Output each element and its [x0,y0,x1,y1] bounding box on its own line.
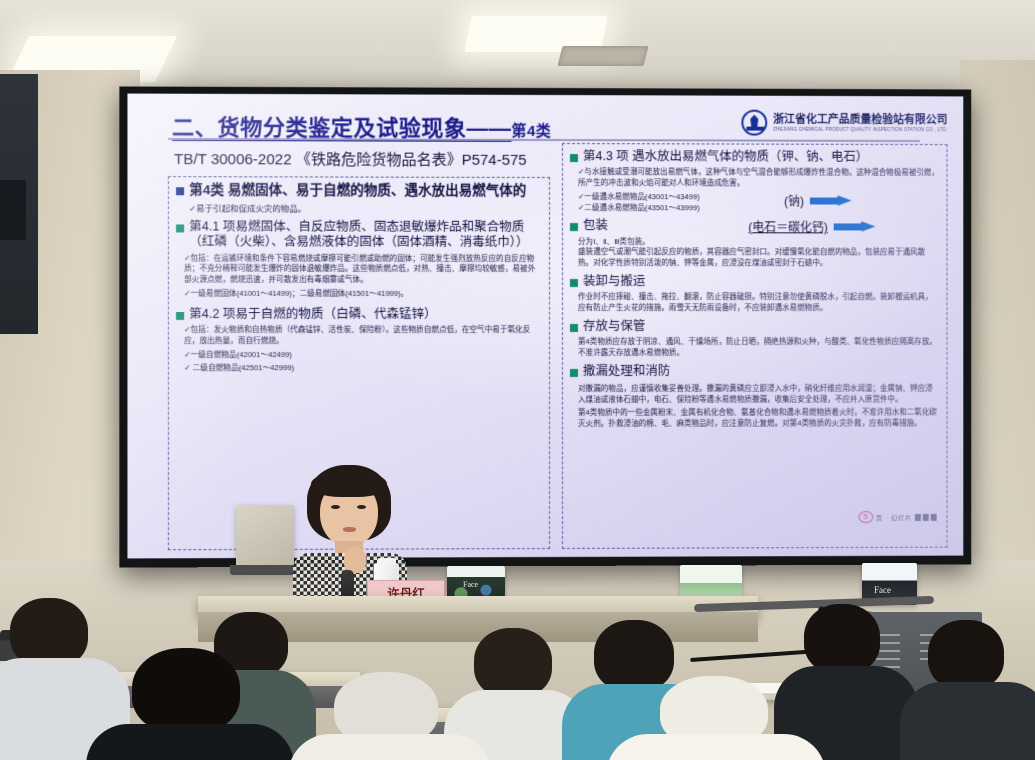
section-42-item-1: ✓一级自燃物品(42001～42499) [184,350,542,361]
company-name-en: ZHEJIANG CHEMICAL PRODUCT QUALITY INSPEC… [773,126,947,131]
company-name-cn: 浙江省化工产品质量检验站有限公司 [773,114,947,127]
audience-member [300,672,480,760]
section-41-item-1: ✓一级易燃固体(41001～41499)；二级易燃固体(41501～41999)… [184,289,542,300]
section-43-item-2: ✓二级遇水易燃物品(43501～43999) [578,203,940,214]
section-handling: 装卸与搬运 [570,274,940,289]
presentation-slide: 二、货物分类鉴定及试验现象——第4类 浙江省化工产品质量检验站有限公司 ZHEJ… [127,94,963,559]
section-43: 第4.3 项 遇水放出易燃气体的物质（钾、钠、电石） [570,149,940,165]
section-spill-heading: 撒漏处理和消防 [583,364,670,379]
bullet-square-icon [570,324,578,332]
wall-right [960,60,1035,630]
section-class4: 第4类 易燃固体、易于自燃的物质、遇水放出易燃气体的 [176,182,542,200]
tissue-box-label: Face [463,580,478,589]
company-logo-icon [741,110,767,136]
slide-watermark: 5 页 · 幻灯片 [858,511,936,523]
arrow-right-icon [810,195,852,208]
section-41-item-0: ✓包括：在运输环境和条件下容易燃烧或摩擦可能引燃或助燃的固体；可能发生强烈放热反… [184,253,542,286]
bullet-square-icon [176,224,184,232]
audience-member [914,620,1035,760]
section-43-heading: 第4.3 项 遇水放出易燃气体的物质（钾、钠、电石） [583,149,868,165]
bullet-square-icon [570,154,578,162]
section-42-item-2: ✓ 二级自燃物品(42501～42999) [184,363,542,374]
classroom-photo-scene: 二、货物分类鉴定及试验现象——第4类 浙江省化工产品质量检验站有限公司 ZHEJ… [0,0,1035,760]
slide-title-main: 二、货物分类鉴定及试验现象—— [172,115,512,141]
callout-carbide: (电石＝碳化钙) [748,218,875,235]
presenter-fringe [311,471,387,497]
section-class4-item-0: ✓易于引起和促成火灾的物品。 [189,202,542,215]
standard-reference: TB/T 30006-2022 《铁路危险货物品名表》P574-575 [174,148,527,170]
bullet-square-icon [570,279,578,287]
section-storage-heading: 存放与保管 [583,319,645,334]
bullet-square-icon [176,312,184,320]
section-storage: 存放与保管 [570,319,940,334]
wall-speaker [0,180,26,240]
section-packaging-heading: 包装 [583,218,608,233]
presenter-eye-left [331,505,340,509]
section-43-item-0: ✓与水接触或受潮可能放出易燃气体，这种气体与空气混合能够形成爆炸性混合物。这种混… [578,167,940,189]
section-spill-item-0: 对撒漏的物品，应谨慎收集妥善处理。撒漏的黄磷应立即浸入水中，硝化纤维应用水润湿；… [578,384,940,406]
callout-sodium: (钠) [784,192,851,209]
tissue-box-label2: Face [874,585,891,595]
section-42-heading: 第4.2 项易于自燃的物质（白磷、代森锰锌） [189,307,437,322]
watermark-label: 页 · 幻灯片 [876,512,912,521]
right-content-box: 第4.3 项 遇水放出易燃气体的物质（钾、钠、电石） ✓与水接触或受潮可能放出易… [562,143,948,549]
section-42-item-0: ✓包括：发火物质和自热物质（代森锰锌、活性炭、保险粉）。这些物质自燃点低，在空气… [184,325,542,347]
projection-screen: 二、货物分类鉴定及试验现象——第4类 浙江省化工产品质量检验站有限公司 ZHEJ… [119,86,971,567]
presenter-eye-right [357,505,366,509]
presenter-mouth [343,527,356,532]
section-43-item-1: ✓一级遇水易燃物品(43001～43499) [578,192,940,203]
section-handling-heading: 装卸与搬运 [583,274,645,289]
section-spill-item-1: 第4类物质中的一些金属粉末、金属有机化合物、氨基化合物和遇水易燃物质着火时，不准… [578,408,940,430]
callout-carbide-label: (电石＝碳化钙) [748,218,827,235]
ceiling-vent [558,46,649,66]
watermark-blocks-icon [915,513,937,520]
audience-member [616,676,816,760]
section-42: 第4.2 项易于自燃的物质（白磷、代森锰锌） [176,307,542,322]
stamp-icon: 5 [858,511,873,523]
company-logo: 浙江省化工产品质量检验站有限公司 ZHEJIANG CHEMICAL PRODU… [741,110,947,137]
bullet-square-icon [570,223,578,231]
bullet-square-icon [176,187,184,195]
section-handling-item-0: 作业时不应摔碰、撞击、拖拉、翻滚，防止容器破损。特别注意勿使黄磷脱水，引起自燃。… [578,292,940,314]
slide-title-suffix: 第4类 [512,123,552,140]
section-packaging-item-1: 盛装遇空气或潮气能引起反应的物质，其容器应气密封口。对缓慢氧化能自燃的物品，包装… [578,247,940,269]
section-storage-item-0: 第4类物质应存放于阴凉、通风、干燥场所，防止日晒，隔绝热源和火种，与酸类、氧化性… [578,337,940,359]
section-41-heading: 第4.1 项易燃固体、自反应物质、固态退敏爆炸品和聚合物质（红磷（火柴）、含易燃… [189,219,542,250]
section-41: 第4.1 项易燃固体、自反应物质、固态退敏爆炸品和聚合物质（红磷（火柴）、含易燃… [176,219,542,250]
section-spill: 撒漏处理和消防 [570,363,940,378]
bullet-square-icon [570,369,578,377]
section-class4-heading: 第4类 易燃固体、易于自燃的物质、遇水放出易燃气体的 [189,182,526,200]
audience-member [100,648,280,760]
callout-sodium-label: (钠) [784,192,804,209]
arrow-right-icon [834,220,876,233]
